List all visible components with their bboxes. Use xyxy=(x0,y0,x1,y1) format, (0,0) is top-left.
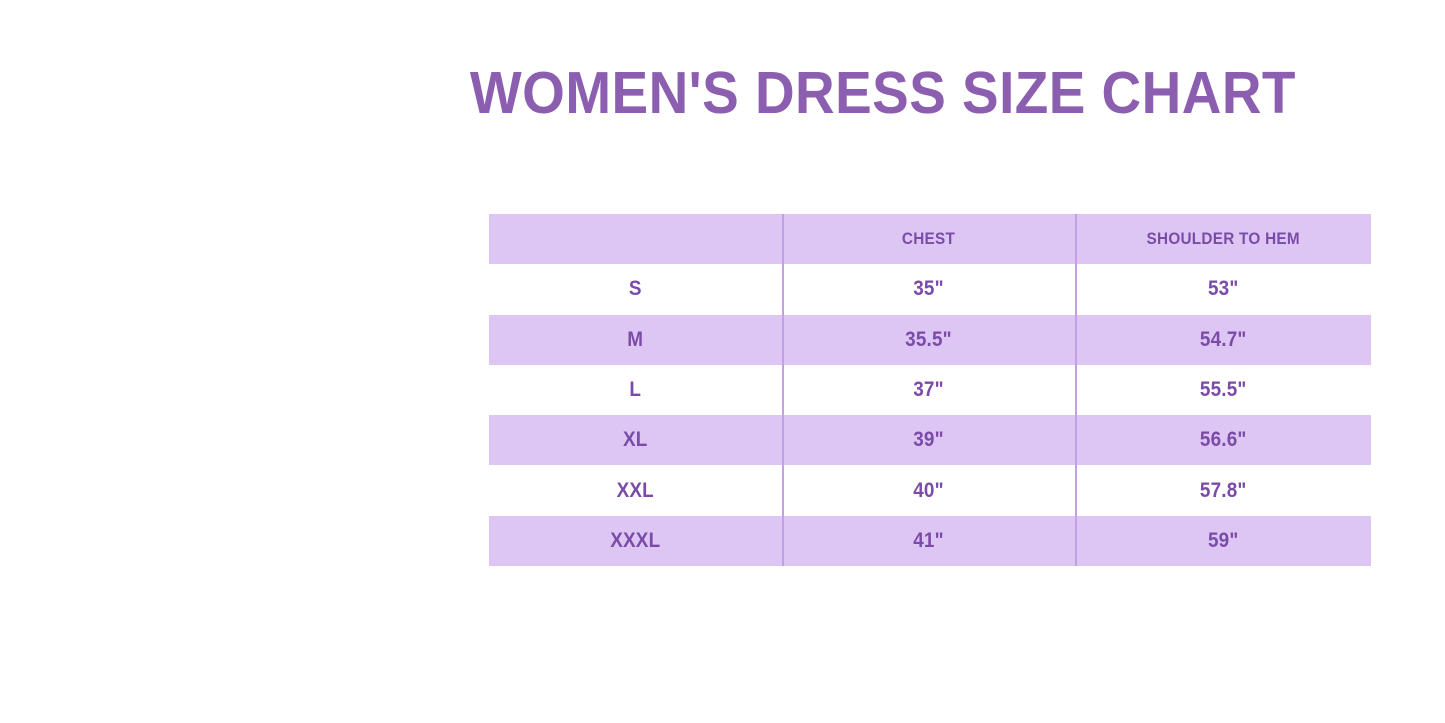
cell-size: L xyxy=(504,365,768,415)
table-row: S 35" 53" xyxy=(489,264,1371,314)
cell-shoulder-to-hem: 57.8" xyxy=(1090,465,1356,515)
cell-size: M xyxy=(504,315,768,365)
page-title: WOMEN'S DRESS SIZE CHART xyxy=(51,57,1395,129)
table-row: XXXL 41" 59" xyxy=(489,516,1371,566)
table-row: L 37" 55.5" xyxy=(489,365,1371,415)
cell-shoulder-to-hem: 59" xyxy=(1090,516,1356,566)
cell-chest: 39" xyxy=(797,415,1061,465)
cell-chest: 41" xyxy=(797,516,1061,566)
table-body: S 35" 53" M 35.5" 54.7" L 37" 55.5" XL 3… xyxy=(489,264,1371,566)
cell-size: XXL xyxy=(504,465,768,515)
cell-shoulder-to-hem: 53" xyxy=(1090,264,1356,314)
header-cell-chest: CHEST xyxy=(797,214,1061,264)
table-row: XL 39" 56.6" xyxy=(489,415,1371,465)
cell-chest: 37" xyxy=(797,365,1061,415)
column-divider-1 xyxy=(782,214,784,566)
table-header-row: CHEST SHOULDER TO HEM xyxy=(489,214,1371,264)
size-chart-table: CHEST SHOULDER TO HEM S 35" 53" M 35.5" … xyxy=(489,214,1371,566)
table-header: CHEST SHOULDER TO HEM xyxy=(489,214,1371,264)
cell-size: S xyxy=(504,264,768,314)
cell-size: XL xyxy=(504,415,768,465)
table-row: M 35.5" 54.7" xyxy=(489,315,1371,365)
cell-chest: 35.5" xyxy=(797,315,1061,365)
column-divider-2 xyxy=(1075,214,1077,566)
cell-shoulder-to-hem: 54.7" xyxy=(1090,315,1356,365)
cell-size: XXXL xyxy=(504,516,768,566)
cell-chest: 35" xyxy=(797,264,1061,314)
header-cell-size xyxy=(504,214,768,264)
table-row: XXL 40" 57.8" xyxy=(489,465,1371,515)
cell-shoulder-to-hem: 55.5" xyxy=(1090,365,1356,415)
cell-shoulder-to-hem: 56.6" xyxy=(1090,415,1356,465)
cell-chest: 40" xyxy=(797,465,1061,515)
header-cell-shoulder-to-hem: SHOULDER TO HEM xyxy=(1090,214,1356,264)
